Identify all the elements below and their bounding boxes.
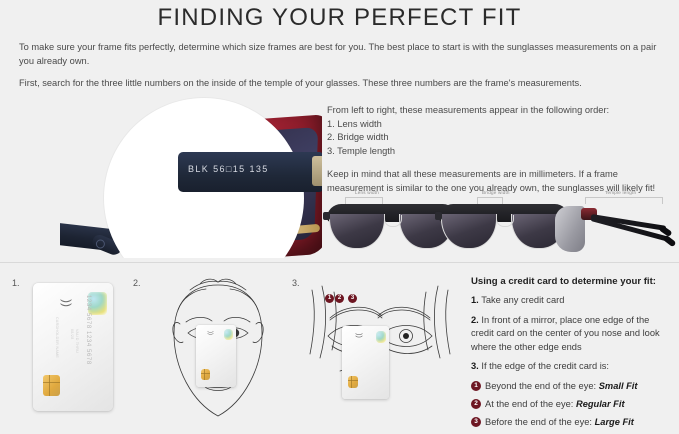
eye-marker-2: 2 <box>335 294 344 303</box>
eye-marker-3: 3 <box>348 294 357 303</box>
fit-bullet-large-text: Before the end of the eye: <box>485 417 592 427</box>
temple-tip-lower <box>663 235 677 248</box>
spacer <box>327 158 672 168</box>
chip-icon <box>43 375 60 396</box>
step-number-3: 3. <box>292 278 300 288</box>
bullet-marker-3: 3 <box>471 417 481 427</box>
measurement-item-temple-length: 3. Temple length <box>327 145 672 159</box>
fit-bullet-regular-text: At the end of the eye: <box>485 399 573 409</box>
bullet-marker-1: 1 <box>471 381 481 391</box>
fit-bullet-small: 1 Beyond the end of the eye: Small Fit <box>471 380 671 393</box>
bullet-marker-2: 2 <box>471 399 481 409</box>
panel-step-3: 3. If the edge of the credit card is: <box>471 360 671 374</box>
left-hinge <box>323 212 330 220</box>
diagram-label-temple-length: Temple length <box>605 190 636 195</box>
fit-bullet-regular-label: Regular Fit <box>576 399 625 409</box>
fit-bullet-small-text: Beyond the end of the eye: <box>485 381 596 391</box>
contactless-icon: )) <box>207 331 213 335</box>
sunglasses-photo: BLK 56□15 135 <box>60 96 322 258</box>
card-valid-date: 08/28 <box>70 329 74 340</box>
left-lens <box>329 214 385 249</box>
panel-heading: Using a credit card to determine your fi… <box>471 276 671 287</box>
panel-step-2-text: In front of a mirror, place one edge of … <box>471 315 660 352</box>
intro-paragraph-2: First, search for the three little numbe… <box>19 76 664 90</box>
panel-step-1-number: 1. <box>471 295 479 305</box>
temple-marking-text: BLK 56□15 135 <box>188 164 318 174</box>
glasses-front-view-1 <box>327 202 457 254</box>
card-valid-label: VALID THRU <box>75 329 79 353</box>
measurement-list: 1. Lens width 2. Bridge width 3. Temple … <box>327 118 672 159</box>
hologram-icon <box>224 329 233 340</box>
fit-bullet-large-row: Before the end of the eye: Large Fit <box>485 416 634 429</box>
panel-step-1-text: Take any credit card <box>481 295 564 305</box>
chip-icon <box>348 376 358 388</box>
contactless-icon: )) <box>60 299 74 307</box>
step-number-2: 2. <box>133 278 141 288</box>
contactless-icon: )) <box>355 333 362 338</box>
panel-step-3-number: 3. <box>471 361 479 371</box>
card-number: 1234 5678 1234 5678 <box>85 295 91 365</box>
fit-bullet-regular: 2 At the end of the eye: Regular Fit <box>471 398 671 411</box>
panel-step-3-text: If the edge of the credit card is: <box>481 361 609 371</box>
panel-step-2-number: 2. <box>471 315 479 325</box>
chip-icon <box>201 369 210 380</box>
measurement-item-lens-width: 1. Lens width <box>327 118 672 132</box>
diagram-label-bridge-width: Bridge width <box>482 190 510 195</box>
left-lens <box>441 214 497 249</box>
infographic-page: FINDING YOUR PERFECT FIT To make sure yo… <box>0 0 679 434</box>
panel-step-1: 1. Take any credit card <box>471 294 671 308</box>
fit-bullet-small-row: Beyond the end of the eye: Small Fit <box>485 380 637 393</box>
eye-marker-1: 1 <box>325 294 334 303</box>
step-number-1: 1. <box>12 278 20 288</box>
diagram-label-lens-width: Lens width <box>355 190 379 195</box>
credit-card-on-eyes: )) <box>342 326 389 399</box>
glasses-diagram: Lens width Bridge width Temple length <box>327 190 675 260</box>
credit-card-on-face: )) <box>196 325 236 387</box>
page-title: FINDING YOUR PERFECT FIT <box>0 4 679 32</box>
hologram-icon <box>376 331 386 343</box>
fit-bullet-regular-row: At the end of the eye: Regular Fit <box>485 398 625 411</box>
panel-step-2: 2. In front of a mirror, place one edge … <box>471 314 671 355</box>
glasses-front-view-2 <box>439 202 569 254</box>
section-divider <box>0 262 679 263</box>
credit-card-illustration: )) 1234 5678 1234 5678 VALID THRU 08/28 … <box>33 283 113 411</box>
glasses-side-view <box>555 202 675 254</box>
left-hinge <box>435 212 442 220</box>
fit-bullet-small-label: Small Fit <box>599 381 638 391</box>
measurement-explanation: From left to right, these measurements a… <box>327 104 672 195</box>
measurement-order-intro: From left to right, these measurements a… <box>327 104 672 118</box>
measurement-item-bridge-width: 2. Bridge width <box>327 131 672 145</box>
intro-paragraph-1: To make sure your frame fits perfectly, … <box>19 40 664 68</box>
fit-bullet-large: 3 Before the end of the eye: Large Fit <box>471 416 671 429</box>
card-holder-name: CARDHOLDER NAME <box>55 317 59 358</box>
credit-card-fit-panel: Using a credit card to determine your fi… <box>471 276 671 434</box>
fit-bullet-large-label: Large Fit <box>595 417 634 427</box>
